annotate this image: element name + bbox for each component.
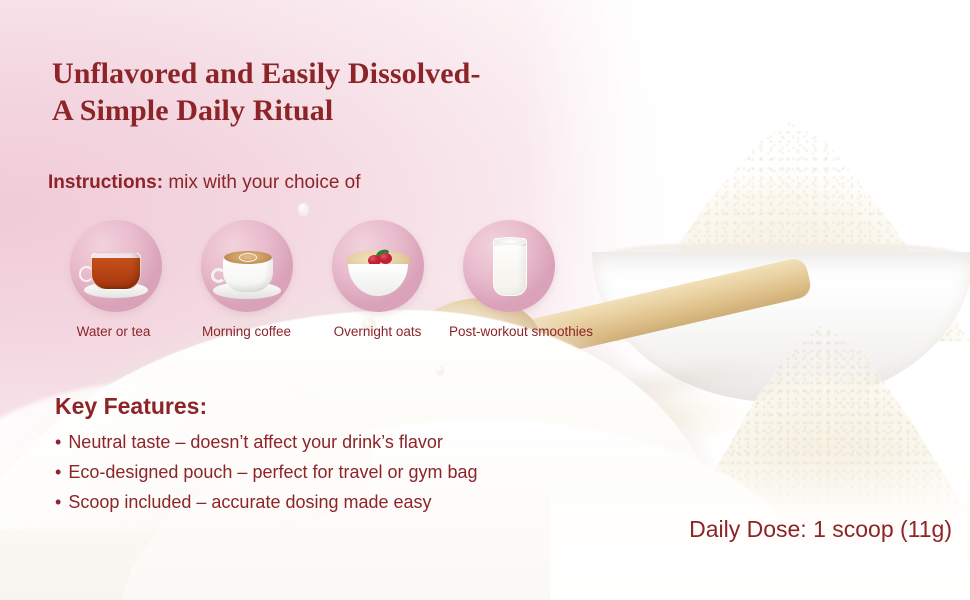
mix-option-overnight-oats: Overnight oats <box>312 220 443 339</box>
mix-option-morning-coffee: Morning coffee <box>181 220 312 339</box>
latte-art <box>239 253 257 262</box>
tea-cup-icon <box>70 220 162 312</box>
list-item: Eco-designed pouch – perfect for travel … <box>55 457 478 487</box>
daily-dose-text: Daily Dose: 1 scoop (11g) <box>689 516 952 543</box>
oats-bowl-icon <box>332 220 424 312</box>
glass-teacup-shape <box>91 252 141 290</box>
mix-option-water-or-tea: Water or tea <box>50 220 181 339</box>
page-title: Unflavored and Easily Dissolved- A Simpl… <box>52 55 481 129</box>
milk-glass-icon <box>463 220 555 312</box>
raspberry <box>379 253 392 264</box>
mix-option-label: Water or tea <box>46 324 181 339</box>
instructions-line: Instructions: mix with your choice of <box>48 172 361 194</box>
list-item: Scoop included – accurate dosing made ea… <box>55 487 478 517</box>
product-info-banner: Unflavored and Easily Dissolved- A Simpl… <box>0 0 970 600</box>
mix-option-post-workout-smoothies: Post-workout smoothies <box>443 220 574 339</box>
bowl-shape <box>348 264 408 296</box>
mix-option-label: Morning coffee <box>181 324 312 339</box>
key-features-list: Neutral taste – doesn’t affect your drin… <box>55 427 478 517</box>
mix-option-label: Overnight oats <box>312 324 443 339</box>
mix-option-label: Post-workout smoothies <box>449 324 574 339</box>
coffee-cup-icon <box>201 220 293 312</box>
glass-shape <box>493 238 527 296</box>
instructions-text: mix with your choice of <box>163 172 360 193</box>
list-item: Neutral taste – doesn’t affect your drin… <box>55 427 478 457</box>
instructions-label: Instructions: <box>48 172 163 193</box>
key-features-block: Key Features: Neutral taste – doesn’t af… <box>55 393 478 517</box>
mix-options-row: Water or tea Morning coffee <box>50 220 574 339</box>
key-features-title: Key Features: <box>55 393 478 420</box>
banner-content: Unflavored and Easily Dissolved- A Simpl… <box>0 0 970 600</box>
glass-rim <box>493 237 527 246</box>
